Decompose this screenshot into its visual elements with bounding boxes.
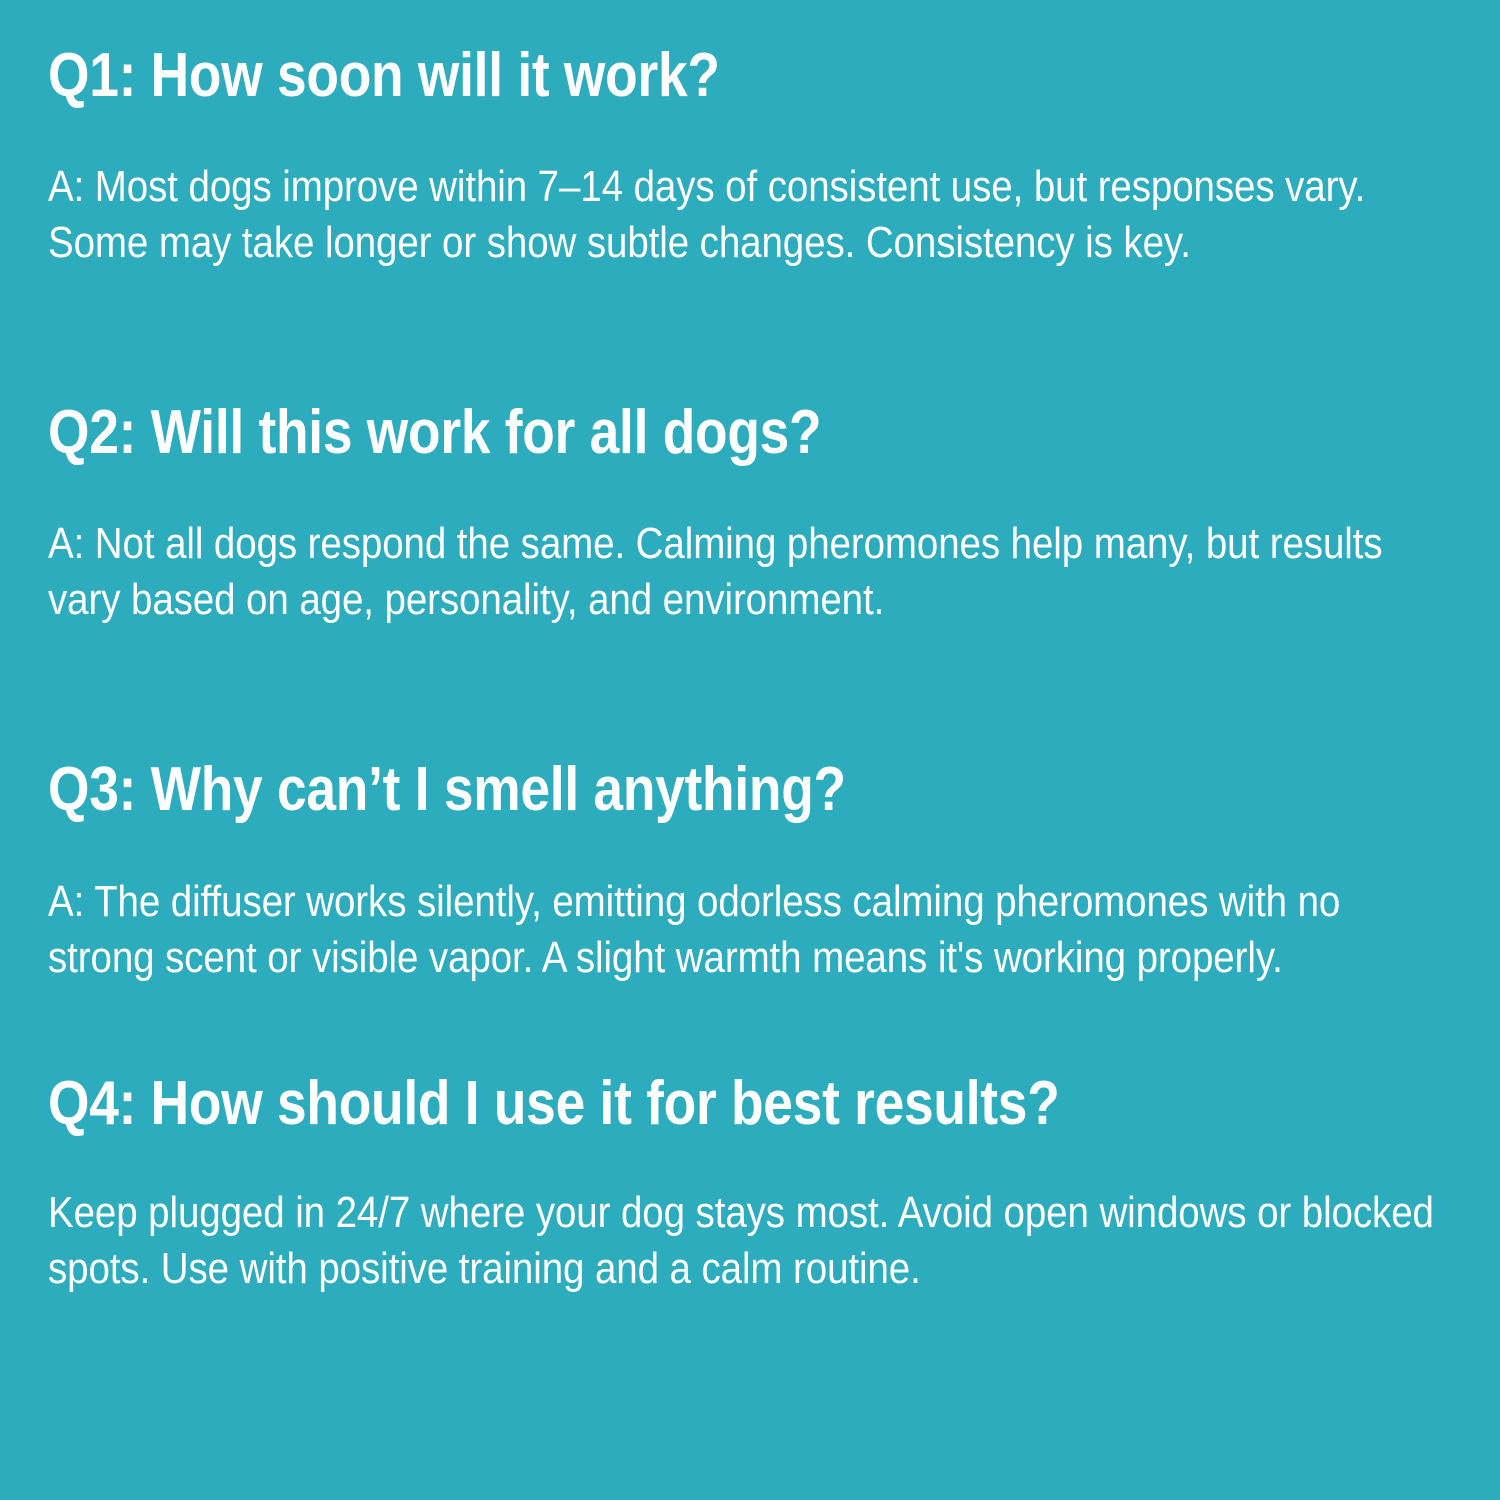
faq-question-2: Q2: Will this work for all dogs? — [48, 401, 1237, 464]
faq-item-1: Q1: How soon will it work? A: Most dogs … — [48, 44, 1430, 271]
faq-answer-4: Keep plugged in 24/7 where your dog stay… — [48, 1185, 1444, 1297]
faq-answer-2: A: Not all dogs respond the same. Calmin… — [48, 516, 1444, 628]
faq-question-3: Q3: Why can’t I smell anything? — [48, 758, 1237, 821]
faq-card: Q1: How soon will it work? A: Most dogs … — [0, 0, 1500, 1500]
faq-question-1: Q1: How soon will it work? — [48, 44, 1237, 107]
faq-item-3: Q3: Why can’t I smell anything? A: The d… — [48, 758, 1430, 985]
faq-item-4: Q4: How should I use it for best results… — [48, 1072, 1430, 1297]
faq-answer-1: A: Most dogs improve within 7–14 days of… — [48, 159, 1444, 271]
faq-item-2: Q2: Will this work for all dogs? A: Not … — [48, 401, 1430, 628]
faq-question-4: Q4: How should I use it for best results… — [48, 1072, 1237, 1135]
faq-answer-3: A: The diffuser works silently, emitting… — [48, 874, 1444, 986]
